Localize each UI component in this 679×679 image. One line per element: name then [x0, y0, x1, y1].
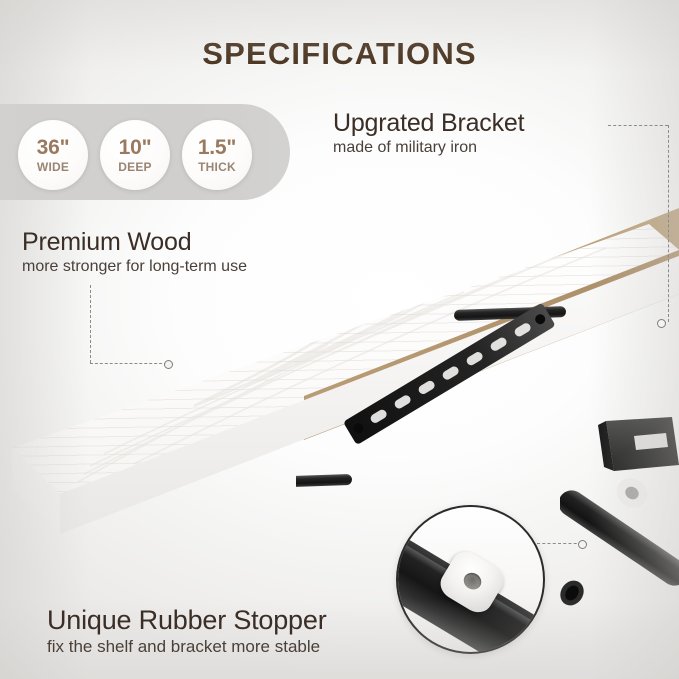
badge-depth: 10" DEEP [100, 120, 170, 190]
badge-thickness: 1.5" THICK [182, 120, 252, 190]
callout-bracket-heading: Upgrated Bracket [333, 109, 524, 138]
page-title: SPECIFICATIONS [0, 36, 679, 72]
leader-line-wood-horizontal [90, 363, 167, 364]
leader-endpoint-wood [164, 360, 173, 369]
leader-line-bracket-vertical [668, 125, 669, 322]
specifications-infographic: SPECIFICATIONS [0, 0, 679, 679]
callout-stopper-heading: Unique Rubber Stopper [47, 605, 327, 636]
bracket-support-rod [560, 485, 679, 610]
badge-thickness-label: THICK [198, 161, 236, 173]
leader-endpoint-stopper [578, 540, 587, 549]
leader-line-wood-vertical [90, 285, 91, 363]
callout-wood-heading: Premium Wood [22, 228, 247, 257]
slotted-plate [343, 303, 556, 446]
support-rod-lower [296, 474, 352, 489]
leader-endpoint-bracket [657, 319, 666, 328]
corner-bracket-closeup [560, 405, 679, 620]
callout-stopper: Unique Rubber Stopper fix the shelf and … [47, 605, 327, 657]
badge-width-value: 36" [37, 137, 70, 158]
bracket-flat-plate [598, 417, 679, 471]
leader-line-stopper-horizontal [537, 543, 582, 544]
callout-bracket: Upgrated Bracket made of military iron [333, 109, 524, 157]
badge-thickness-value: 1.5" [198, 137, 236, 158]
rubber-stopper-detail-circle [396, 505, 545, 654]
rubber-stopper [611, 472, 653, 513]
callout-wood: Premium Wood more stronger for long-term… [22, 228, 247, 276]
badge-depth-value: 10" [119, 137, 152, 158]
callout-stopper-subtext: fix the shelf and bracket more stable [47, 637, 327, 657]
callout-bracket-subtext: made of military iron [333, 139, 524, 157]
badge-depth-label: DEEP [118, 161, 151, 173]
badge-width-label: WIDE [37, 161, 69, 173]
leader-line-bracket-horizontal [608, 125, 668, 126]
badge-width: 36" WIDE [18, 120, 88, 190]
callout-wood-subtext: more stronger for long-term use [22, 258, 247, 276]
